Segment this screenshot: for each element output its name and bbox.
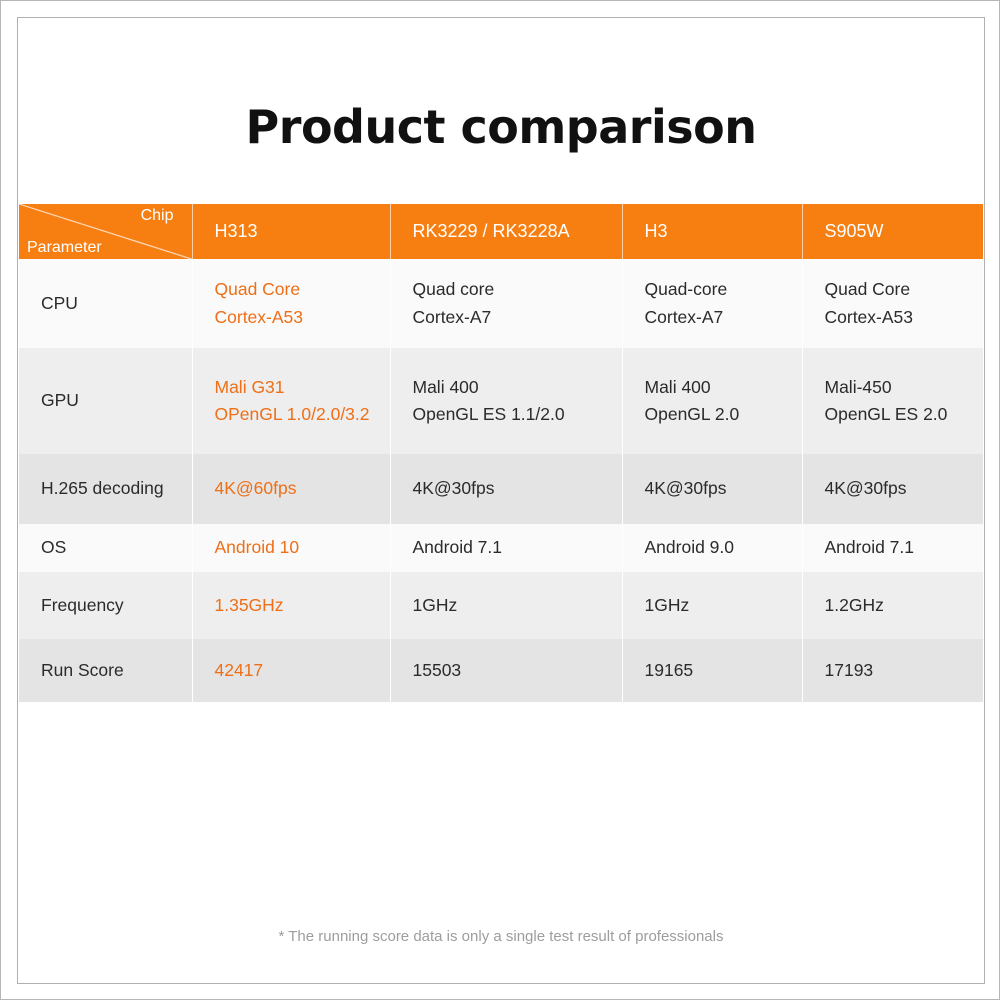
cell-run-score-h3: 19165 (622, 639, 802, 702)
cell-line-2: OPenGL 1.0/2.0/3.2 (215, 401, 390, 428)
table-body: CPU Quad Core Cortex-A53 Quad core Corte… (19, 259, 983, 702)
header-chip-label: Chip (141, 207, 174, 225)
cell-cpu-s905w: Quad Core Cortex-A53 (802, 259, 983, 348)
cell-h265-s905w: 4K@30fps (802, 454, 983, 524)
table-row-gpu: GPU Mali G31 OPenGL 1.0/2.0/3.2 Mali 400… (19, 348, 983, 454)
cell-line-2: Cortex-A7 (645, 304, 802, 331)
cell-gpu-rk3229: Mali 400 OpenGL ES 1.1/2.0 (390, 348, 622, 454)
cell-cpu-h3: Quad-core Cortex-A7 (622, 259, 802, 348)
footnote-text: * The running score data is only a singl… (1, 928, 1000, 945)
cell-line-1: Mali 400 (645, 374, 802, 401)
cell-line-1: Mali-450 (825, 374, 984, 401)
column-header-s905w: S905W (802, 204, 983, 259)
cell-os-rk3229: Android 7.1 (390, 524, 622, 572)
cell-line-2: OpenGL 2.0 (645, 401, 802, 428)
header-row: Chip Parameter H313 RK3229 / RK3228A H3 … (19, 204, 983, 259)
cell-line-1: Quad-core (645, 276, 802, 303)
cell-os-h3: Android 9.0 (622, 524, 802, 572)
table-header: Chip Parameter H313 RK3229 / RK3228A H3 … (19, 204, 983, 259)
cell-frequency-h3: 1GHz (622, 572, 802, 639)
table-row-os: OS Android 10 Android 7.1 Android 9.0 An… (19, 524, 983, 572)
cell-h265-h3: 4K@30fps (622, 454, 802, 524)
table-row-frequency: Frequency 1.35GHz 1GHz 1GHz 1.2GHz (19, 572, 983, 639)
cell-frequency-rk3229: 1GHz (390, 572, 622, 639)
cell-cpu-rk3229: Quad core Cortex-A7 (390, 259, 622, 348)
cell-gpu-h3: Mali 400 OpenGL 2.0 (622, 348, 802, 454)
cell-line-2: OpenGL ES 2.0 (825, 401, 984, 428)
row-label-h265-decoding: H.265 decoding (19, 454, 192, 524)
cell-line-1: Mali 400 (413, 374, 622, 401)
cell-cpu-h313: Quad Core Cortex-A53 (192, 259, 390, 348)
cell-line-1: Mali G31 (215, 374, 390, 401)
cell-line-2: Cortex-A53 (215, 304, 390, 331)
comparison-table: Chip Parameter H313 RK3229 / RK3228A H3 … (19, 204, 983, 702)
cell-frequency-h313: 1.35GHz (192, 572, 390, 639)
cell-os-h313: Android 10 (192, 524, 390, 572)
cell-run-score-h313: 42417 (192, 639, 390, 702)
cell-h265-h313: 4K@60fps (192, 454, 390, 524)
table-row-h265-decoding: H.265 decoding 4K@60fps 4K@30fps 4K@30fp… (19, 454, 983, 524)
cell-os-s905w: Android 7.1 (802, 524, 983, 572)
page-frame: Product comparison Chip Parameter H313 R… (0, 0, 1000, 1000)
header-corner-cell: Chip Parameter (19, 204, 192, 259)
cell-line-1: Quad Core (215, 276, 390, 303)
column-header-h313: H313 (192, 204, 390, 259)
cell-line-1: Quad Core (825, 276, 984, 303)
page-title: Product comparison (1, 102, 1000, 153)
table-row-cpu: CPU Quad Core Cortex-A53 Quad core Corte… (19, 259, 983, 348)
cell-h265-rk3229: 4K@30fps (390, 454, 622, 524)
row-label-os: OS (19, 524, 192, 572)
row-label-cpu: CPU (19, 259, 192, 348)
cell-frequency-s905w: 1.2GHz (802, 572, 983, 639)
table-row-run-score: Run Score 42417 15503 19165 17193 (19, 639, 983, 702)
row-label-gpu: GPU (19, 348, 192, 454)
cell-gpu-s905w: Mali-450 OpenGL ES 2.0 (802, 348, 983, 454)
row-label-run-score: Run Score (19, 639, 192, 702)
row-label-frequency: Frequency (19, 572, 192, 639)
cell-line-2: Cortex-A53 (825, 304, 984, 331)
header-parameter-label: Parameter (27, 239, 102, 257)
cell-line-2: Cortex-A7 (413, 304, 622, 331)
cell-run-score-rk3229: 15503 (390, 639, 622, 702)
cell-line-2: OpenGL ES 1.1/2.0 (413, 401, 622, 428)
column-header-h3: H3 (622, 204, 802, 259)
cell-line-1: Quad core (413, 276, 622, 303)
cell-gpu-h313: Mali G31 OPenGL 1.0/2.0/3.2 (192, 348, 390, 454)
cell-run-score-s905w: 17193 (802, 639, 983, 702)
column-header-rk3229: RK3229 / RK3228A (390, 204, 622, 259)
